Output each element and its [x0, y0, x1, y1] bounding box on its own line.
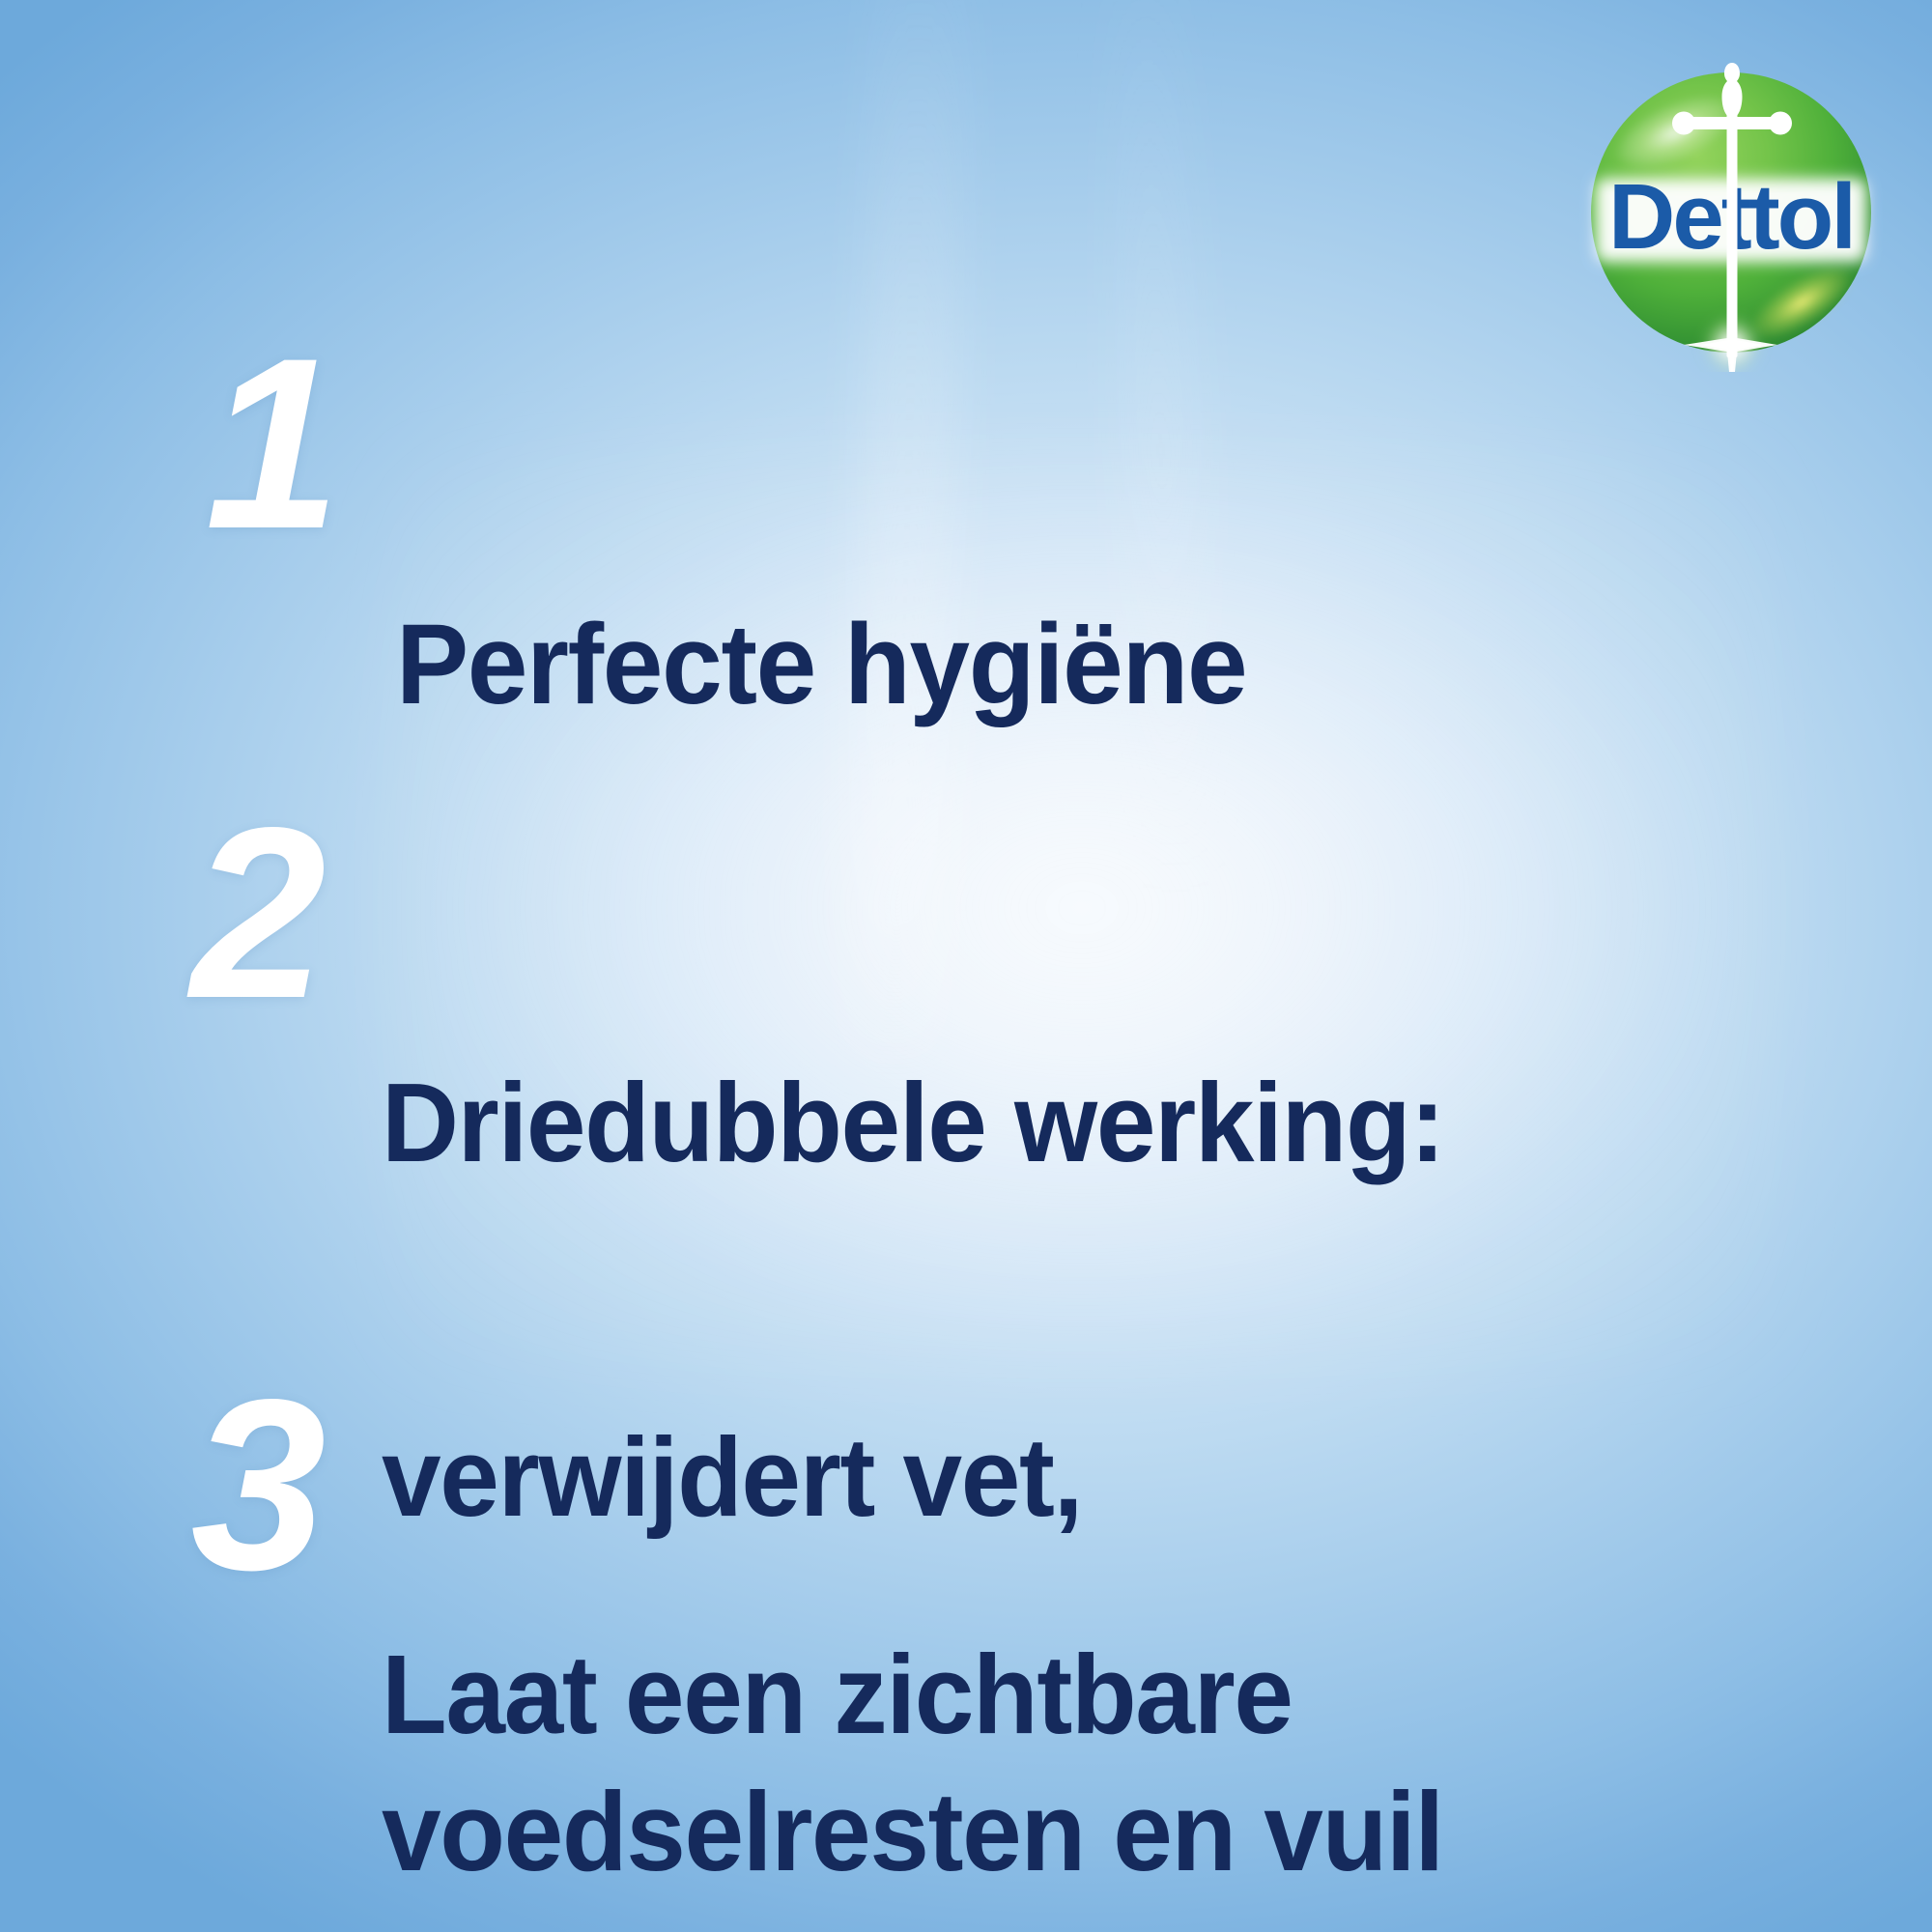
promo-banner: Dettol 1 Perfecte hygiëne 2 Driedubbele … — [0, 0, 1932, 1932]
benefit-list: 1 Perfecte hygiëne 2 Driedubbele werking… — [0, 0, 1932, 1932]
benefit-line: Laat een zichtbare — [382, 1635, 1293, 1753]
benefit-number-1: 1 — [145, 340, 396, 550]
benefit-line: Driedubbele werking: — [382, 1064, 1444, 1181]
benefit-item-3: 3 Laat een zichtbare glans achter — [130, 1381, 1335, 1932]
benefit-number-3: 3 — [130, 1381, 382, 1591]
benefit-line: Perfecte hygiëne — [396, 604, 1246, 726]
benefit-number-2: 2 — [130, 810, 382, 1019]
benefit-text-3: Laat een zichtbare glans achter — [382, 1381, 1293, 1932]
